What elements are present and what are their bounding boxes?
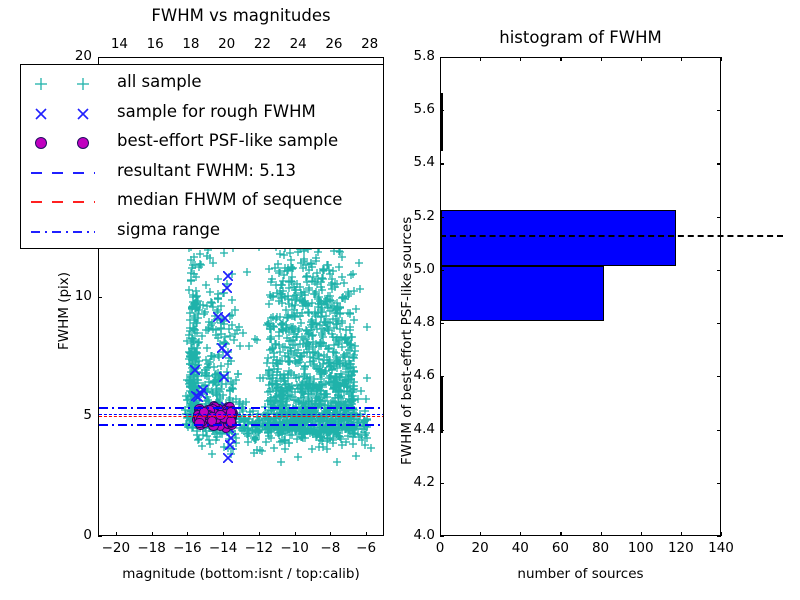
scatter-point-rough-fwhm [220, 308, 230, 318]
scatter-point-all-sample [299, 393, 307, 401]
scatter-point-all-sample [296, 345, 304, 353]
hist-xtick-label: 100 [623, 540, 659, 556]
scatter-point-all-sample [311, 303, 319, 311]
hist-xtick-mark [560, 532, 561, 536]
scatter-point-all-sample [331, 276, 339, 284]
hist-ytick-mark [440, 110, 444, 111]
hist-ytick-mark-right [717, 430, 721, 431]
scatter-point-all-sample [323, 398, 331, 406]
legend-entry-label: median FHWM of sequence [117, 190, 342, 209]
scatter-point-all-sample [294, 446, 302, 454]
scatter-point-rough-fwhm [223, 266, 233, 276]
scatter-point-all-sample [309, 336, 317, 344]
legend-entry-label: all sample [117, 72, 202, 91]
scatter-point-all-sample [350, 361, 358, 369]
hist-ytick-mark [440, 217, 444, 218]
scatter-point-all-sample [284, 350, 292, 358]
top-xtick-label: 22 [246, 36, 278, 52]
legend-entry-label: resultant FWHM: 5.13 [117, 161, 296, 180]
ytick-mark [98, 57, 102, 58]
scatter-point-all-sample [277, 274, 285, 282]
scatter-point-all-sample [279, 367, 287, 375]
scatter-point-all-sample [297, 381, 305, 389]
scatter-point-all-sample [330, 317, 338, 325]
xtick-mark [187, 532, 188, 536]
scatter-point-all-sample [233, 319, 241, 327]
hist-xtick-mark [520, 532, 521, 536]
legend-cross-icon [21, 99, 107, 129]
hist-xtick-mark-top [520, 57, 521, 61]
scatter-point-all-sample [271, 257, 279, 265]
scatter-point-rough-fwhm [223, 448, 233, 458]
scatter-point-all-sample [279, 312, 287, 320]
hist-xtick-label: 120 [663, 540, 699, 556]
top-xtick-label: 16 [139, 36, 171, 52]
scatter-point-all-sample [340, 370, 348, 378]
legend-dashdot-line-icon [21, 217, 107, 247]
scatter-point-all-sample [363, 316, 371, 324]
scatter-point-all-sample [301, 363, 309, 371]
scatter-point-all-sample [269, 285, 277, 293]
legend-entry-0[interactable]: all sample [21, 69, 385, 99]
hist-ytick-label: 5.4 [395, 154, 435, 170]
hist-xtick-label: 140 [703, 540, 739, 556]
histogram-bar [441, 210, 676, 266]
scatter-point-all-sample [201, 301, 209, 309]
ytick-label: 5 [58, 407, 92, 423]
histogram-bar [441, 377, 443, 433]
top-xtick-label: 24 [282, 36, 314, 52]
hist-xtick-mark [480, 532, 481, 536]
hist-ytick-mark-right [717, 57, 721, 58]
hist-ytick-mark [440, 376, 444, 377]
scatter-point-all-sample [347, 264, 355, 272]
xtick-mark [330, 532, 331, 536]
scatter-point-all-sample [329, 260, 337, 268]
scatter-point-all-sample [318, 430, 326, 438]
right-plot-title: histogram of FWHM [440, 28, 721, 47]
scatter-point-all-sample [232, 388, 240, 396]
scatter-point-all-sample [270, 358, 278, 366]
hist-xtick-mark [601, 532, 602, 536]
scatter-point-all-sample [243, 261, 251, 269]
scatter-point-all-sample [277, 451, 285, 459]
legend-dashed-line-icon [21, 187, 107, 217]
hist-ytick-label: 4.2 [395, 474, 435, 490]
scatter-point-all-sample [316, 374, 324, 382]
hist-xtick-mark [641, 532, 642, 536]
scatter-point-all-sample [214, 268, 222, 276]
right-yaxis-label: FWHM of best-effort PSF-like sources [399, 217, 415, 465]
scatter-point-all-sample [192, 297, 200, 305]
hline-median-fhwm-of-sequence [99, 416, 383, 417]
histogram-resultant-fwhm-line [440, 235, 783, 237]
scatter-point-all-sample [229, 378, 237, 386]
scatter-point-all-sample [326, 355, 334, 363]
hist-xtick-mark-top [480, 57, 481, 61]
hline-sigma-range-upper [99, 407, 383, 409]
scatter-point-all-sample [340, 398, 348, 406]
hist-ytick-mark [440, 536, 444, 537]
scatter-point-rough-fwhm [219, 367, 229, 377]
scatter-point-all-sample [305, 259, 313, 267]
scatter-point-all-sample [213, 384, 221, 392]
scatter-point-all-sample [289, 329, 297, 337]
scatter-point-all-sample [187, 269, 195, 277]
legend-entry-5[interactable]: sigma range [21, 217, 385, 247]
scatter-point-all-sample [308, 438, 316, 446]
scatter-point-all-sample [346, 303, 354, 311]
scatter-point-all-sample [256, 439, 264, 447]
legend-entry-3[interactable]: resultant FWHM: 5.13 [21, 158, 385, 188]
legend-entry-label: sample for rough FWHM [117, 102, 316, 121]
scatter-point-all-sample [350, 389, 358, 397]
scatter-point-all-sample [285, 277, 293, 285]
scatter-point-all-sample [308, 390, 316, 398]
xtick-label: −6 [350, 540, 382, 556]
hist-ytick-mark [440, 163, 444, 164]
hist-xtick-label: 20 [462, 540, 498, 556]
legend-entry-label: sigma range [117, 220, 220, 239]
scatter-point-all-sample [339, 286, 347, 294]
hist-ytick-mark-right [717, 323, 721, 324]
legend-entry-label: best-effort PSF-like sample [117, 131, 338, 150]
scatter-point-all-sample [188, 338, 196, 346]
scatter-point-all-sample [288, 295, 296, 303]
hist-ytick-mark-right [717, 376, 721, 377]
figure-canvas: FWHM vs magnitudes 1416182022242628 −20−… [0, 0, 800, 600]
hist-xtick-label: 60 [542, 540, 578, 556]
scatter-point-all-sample [234, 363, 242, 371]
right-xaxis-label: number of sources [440, 566, 721, 582]
scatter-point-all-sample [236, 335, 244, 343]
xtick-label: −14 [207, 540, 239, 556]
scatter-point-all-sample [287, 249, 295, 257]
hist-xtick-mark-top [681, 57, 682, 61]
scatter-point-rough-fwhm [196, 384, 206, 394]
hist-xtick-mark-top [641, 57, 642, 61]
hist-ytick-mark [440, 57, 444, 58]
xtick-mark [259, 532, 260, 536]
hist-xtick-mark [721, 532, 722, 536]
xtick-label: −10 [279, 540, 311, 556]
top-xtick-label: 18 [175, 36, 207, 52]
histogram-bar [441, 266, 604, 322]
hist-ytick-mark [440, 270, 444, 271]
scatter-point-all-sample [341, 327, 349, 335]
ytick-label: 0 [58, 527, 92, 543]
scatter-point-all-sample [256, 367, 264, 375]
scatter-point-all-sample [320, 311, 328, 319]
legend-entry-1[interactable]: sample for rough FWHM [21, 99, 385, 129]
left-plot-title: FWHM vs magnitudes [98, 6, 384, 25]
hist-xtick-mark-top [721, 57, 722, 61]
top-xtick-label: 14 [103, 36, 135, 52]
legend-entry-4[interactable]: median FHWM of sequence [21, 187, 385, 217]
scatter-point-all-sample [316, 359, 324, 367]
top-xtick-label: 28 [354, 36, 386, 52]
scatter-point-all-sample [355, 252, 363, 260]
scatter-point-all-sample [363, 367, 371, 375]
ytick-label: 20 [58, 48, 92, 64]
scatter-point-all-sample [267, 271, 275, 279]
hist-ytick-mark-right [717, 163, 721, 164]
scatter-point-all-sample [322, 290, 330, 298]
hist-ytick-label: 5.8 [395, 48, 435, 64]
hist-ytick-label: 5.6 [395, 101, 435, 117]
hist-xtick-mark [681, 532, 682, 536]
xtick-mark [116, 532, 117, 536]
scatter-point-rough-fwhm [217, 338, 227, 348]
scatter-point-all-sample [186, 317, 194, 325]
scatter-point-all-sample [269, 378, 277, 386]
histogram-of-fwhm-axes [440, 57, 721, 536]
histogram-bar [441, 93, 443, 152]
hist-ytick-mark-right [717, 110, 721, 111]
scatter-point-all-sample [197, 254, 205, 262]
left-yaxis-label: FWHM (pix) [56, 272, 72, 350]
left-xaxis-label: magnitude (bottom:isnt / top:calib) [98, 566, 384, 582]
scatter-point-all-sample [356, 278, 364, 286]
scatter-point-all-sample [305, 279, 313, 287]
scatter-point-all-sample [202, 274, 210, 282]
scatter-point-all-sample [264, 312, 272, 320]
ytick-mark [98, 536, 102, 537]
scatter-point-all-sample [291, 306, 299, 314]
legend-box: all samplesample for rough FWHMbest-effo… [20, 64, 384, 249]
hist-ytick-mark-right [717, 483, 721, 484]
xtick-label: −16 [171, 540, 203, 556]
xtick-mark [295, 532, 296, 536]
scatter-point-all-sample [362, 388, 370, 396]
top-xtick-label: 20 [211, 36, 243, 52]
scatter-point-rough-fwhm [225, 435, 235, 445]
top-xtick-label: 26 [318, 36, 350, 52]
hline-sigma-range-lower [99, 424, 383, 426]
xtick-mark [223, 532, 224, 536]
scatter-point-all-sample [319, 326, 327, 334]
hist-ytick-mark-right [717, 536, 721, 537]
xtick-label: −12 [243, 540, 275, 556]
scatter-point-all-sample [342, 431, 350, 439]
legend-dashed-line-icon [21, 158, 107, 188]
hist-ytick-label: 4.0 [395, 527, 435, 543]
hist-ytick-mark [440, 483, 444, 484]
scatter-point-all-sample [292, 284, 300, 292]
hist-xtick-label: 80 [583, 540, 619, 556]
xtick-mark [152, 532, 153, 536]
hist-ytick-mark [440, 323, 444, 324]
legend-plus-icon [21, 69, 107, 99]
hist-ytick-mark [440, 430, 444, 431]
scatter-point-all-sample [333, 451, 341, 459]
scatter-point-all-sample [299, 427, 307, 435]
hist-xtick-label: 40 [502, 540, 538, 556]
scatter-point-rough-fwhm [190, 360, 200, 370]
legend-circle-icon [21, 128, 107, 158]
ytick-mark [98, 297, 102, 298]
hist-ytick-mark-right [717, 217, 721, 218]
xtick-label: −20 [100, 540, 132, 556]
scatter-point-all-sample [302, 319, 310, 327]
hist-ytick-mark-right [717, 270, 721, 271]
legend-entry-2[interactable]: best-effort PSF-like sample [21, 128, 385, 158]
hist-xtick-mark-top [601, 57, 602, 61]
scatter-point-all-sample [253, 329, 261, 337]
xtick-mark [366, 532, 367, 536]
scatter-point-all-sample [322, 335, 330, 343]
scatter-point-all-sample [314, 268, 322, 276]
hist-xtick-mark-top [560, 57, 561, 61]
hline-resultant-fwhm [99, 414, 383, 415]
xtick-label: −18 [136, 540, 168, 556]
xtick-label: −8 [314, 540, 346, 556]
